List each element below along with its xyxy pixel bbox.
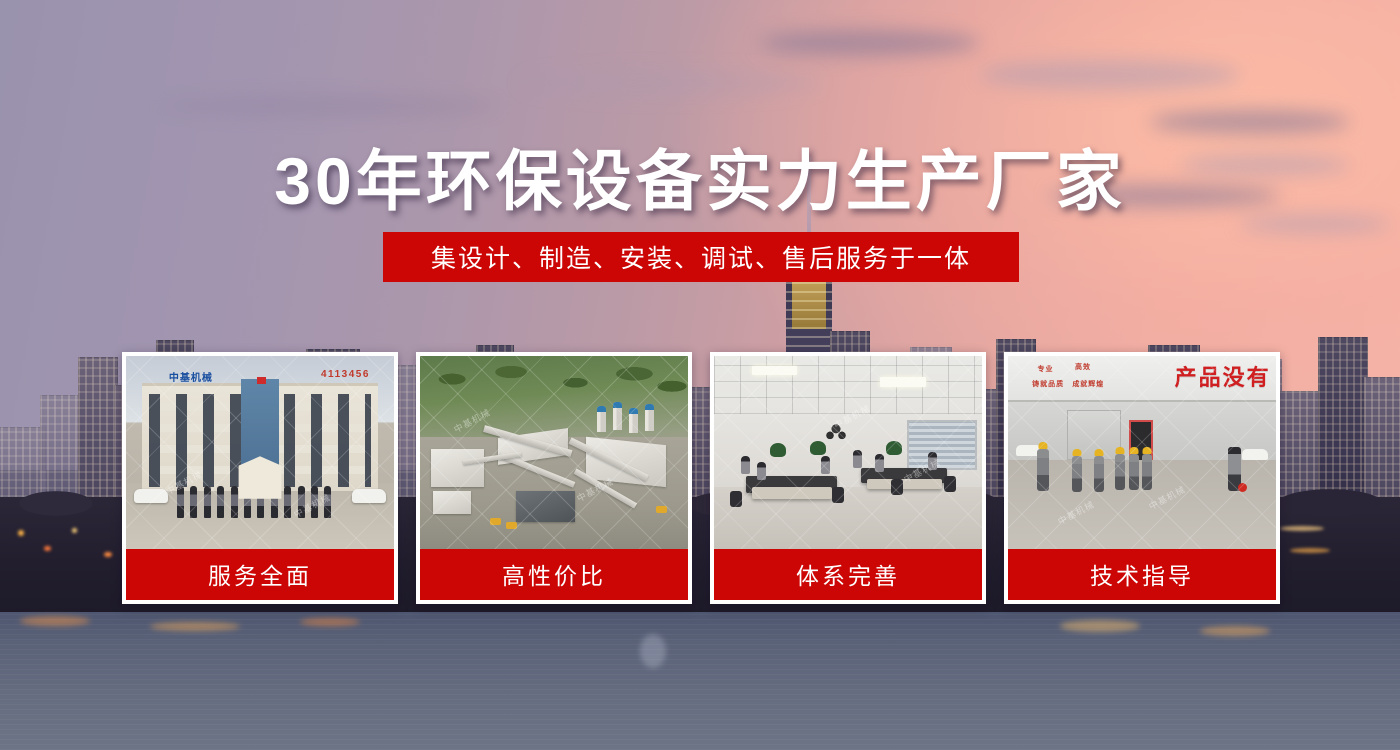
workshop-training-photo: 产品没有 专业 高效 铸就品质 成就辉煌 中基机械 xyxy=(1008,356,1276,549)
wall-emblem-icon xyxy=(821,420,851,442)
feature-card-service[interactable]: 中基机械 4113456 中基机械 中基机械 xyxy=(122,352,398,604)
production-plant-aerial-photo: 中基机械 中基机械 xyxy=(420,356,688,549)
factory-banner-text: 产品没有 xyxy=(1175,360,1271,392)
card-label-text: 高性价比 xyxy=(502,557,606,591)
card-label-text: 技术指导 xyxy=(1090,557,1194,591)
factory-slogan-4: 成就辉煌 xyxy=(1072,379,1104,389)
card-label-text: 体系完善 xyxy=(796,557,900,591)
card-label-bar: 服务全面 xyxy=(126,549,394,600)
cloud xyxy=(520,70,820,96)
feature-card-list: 中基机械 4113456 中基机械 中基机械 xyxy=(122,352,1280,604)
card-label-bar: 技术指导 xyxy=(1008,549,1276,600)
card-label-bar: 体系完善 xyxy=(714,549,982,600)
river-water xyxy=(0,612,1400,750)
card-label-text: 服务全面 xyxy=(208,557,312,591)
card-label-bar: 高性价比 xyxy=(420,549,688,600)
flag-icon xyxy=(257,377,266,384)
factory-slogan-1: 专业 xyxy=(1037,364,1053,374)
promo-banner: 30年环保设备实力生产厂家 集设计、制造、安装、调试、售后服务于一体 中基机械 … xyxy=(0,0,1400,750)
subtitle-text: 集设计、制造、安装、调试、售后服务于一体 xyxy=(431,239,971,275)
office-interior-photo: 中基机械 中基机械 xyxy=(714,356,982,549)
red-helmet-icon xyxy=(1238,483,1247,492)
feature-card-system[interactable]: 中基机械 中基机械 体系完善 xyxy=(710,352,986,604)
subtitle-banner: 集设计、制造、安装、调试、售后服务于一体 xyxy=(383,232,1019,282)
page-title: 30年环保设备实力生产厂家 xyxy=(0,128,1400,224)
cloud xyxy=(760,30,980,56)
cloud xyxy=(980,60,1240,90)
building-phone-text: 4113456 xyxy=(321,369,370,380)
factory-slogan-2: 高效 xyxy=(1075,362,1091,372)
factory-slogan-3: 铸就品质 xyxy=(1032,379,1064,389)
feature-card-value[interactable]: 中基机械 中基机械 高性价比 xyxy=(416,352,692,604)
building-sign-text: 中基机械 xyxy=(169,369,213,384)
company-headquarters-photo: 中基机械 4113456 中基机械 中基机械 xyxy=(126,356,394,549)
feature-card-guidance[interactable]: 产品没有 专业 高效 铸就品质 成就辉煌 中基机械 xyxy=(1004,352,1280,604)
cloud xyxy=(160,95,500,117)
